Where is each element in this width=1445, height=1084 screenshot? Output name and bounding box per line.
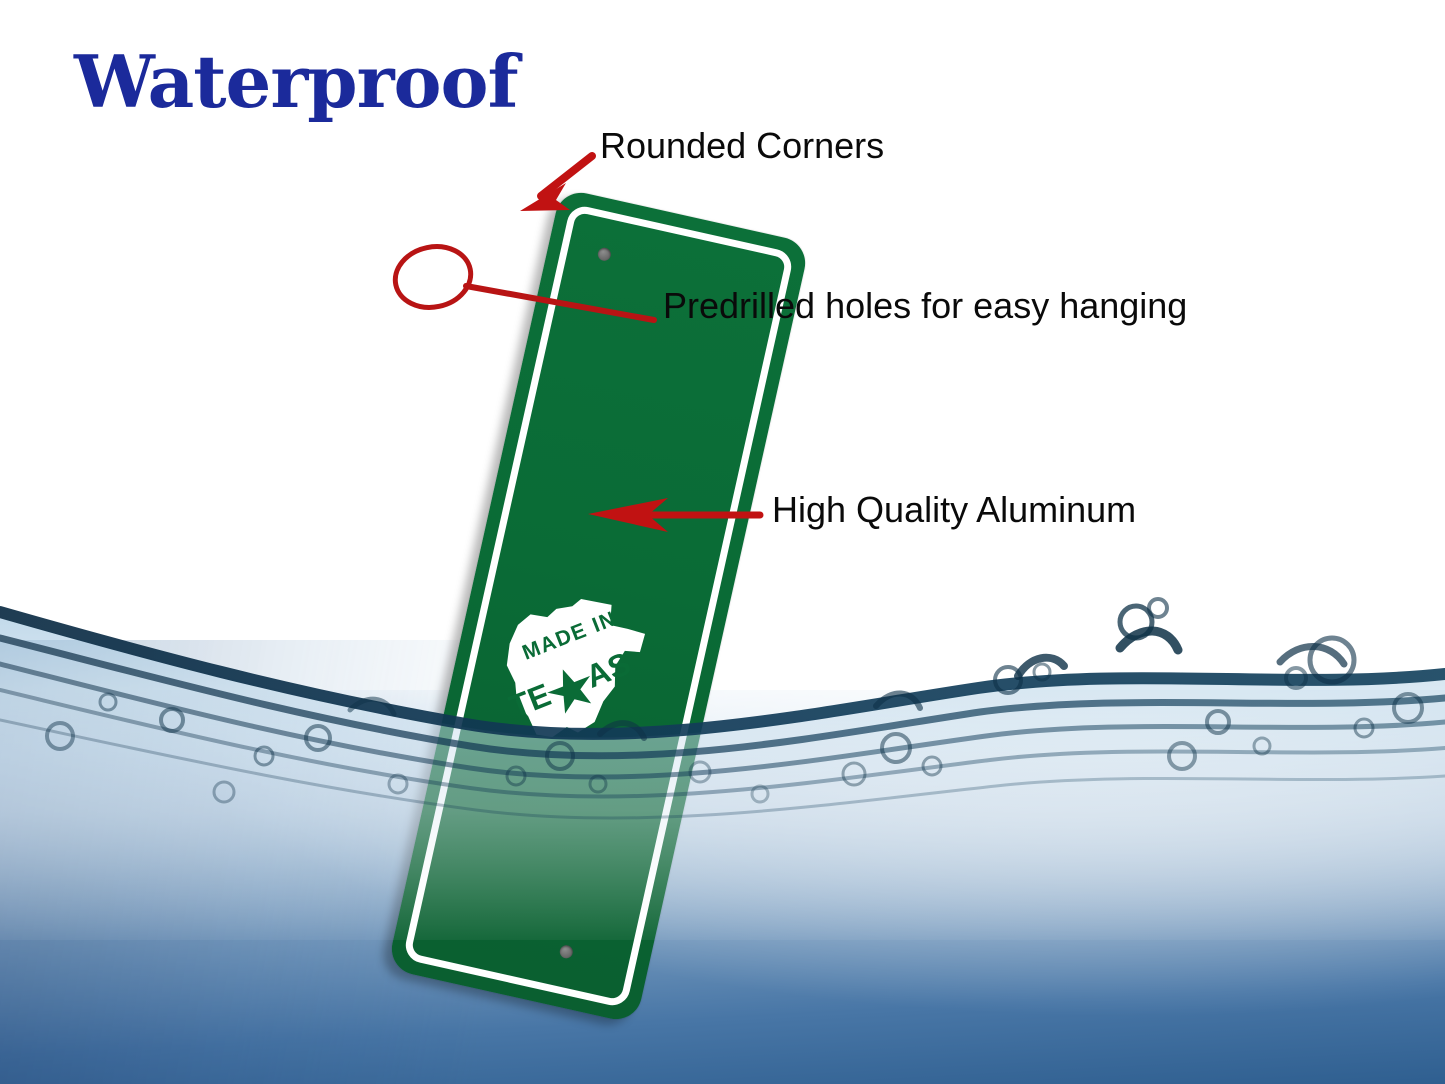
infographic-canvas: Waterproof MADE IN TE AS xyxy=(0,0,1445,1084)
annotation-label-rounded-corners: Rounded Corners xyxy=(600,128,884,164)
page-title: Waterproof xyxy=(74,46,518,118)
annotation-label-predrilled-holes: Predrilled holes for easy hanging xyxy=(663,288,1187,324)
annotation-label-high-quality-aluminum: High Quality Aluminum xyxy=(772,492,1136,528)
